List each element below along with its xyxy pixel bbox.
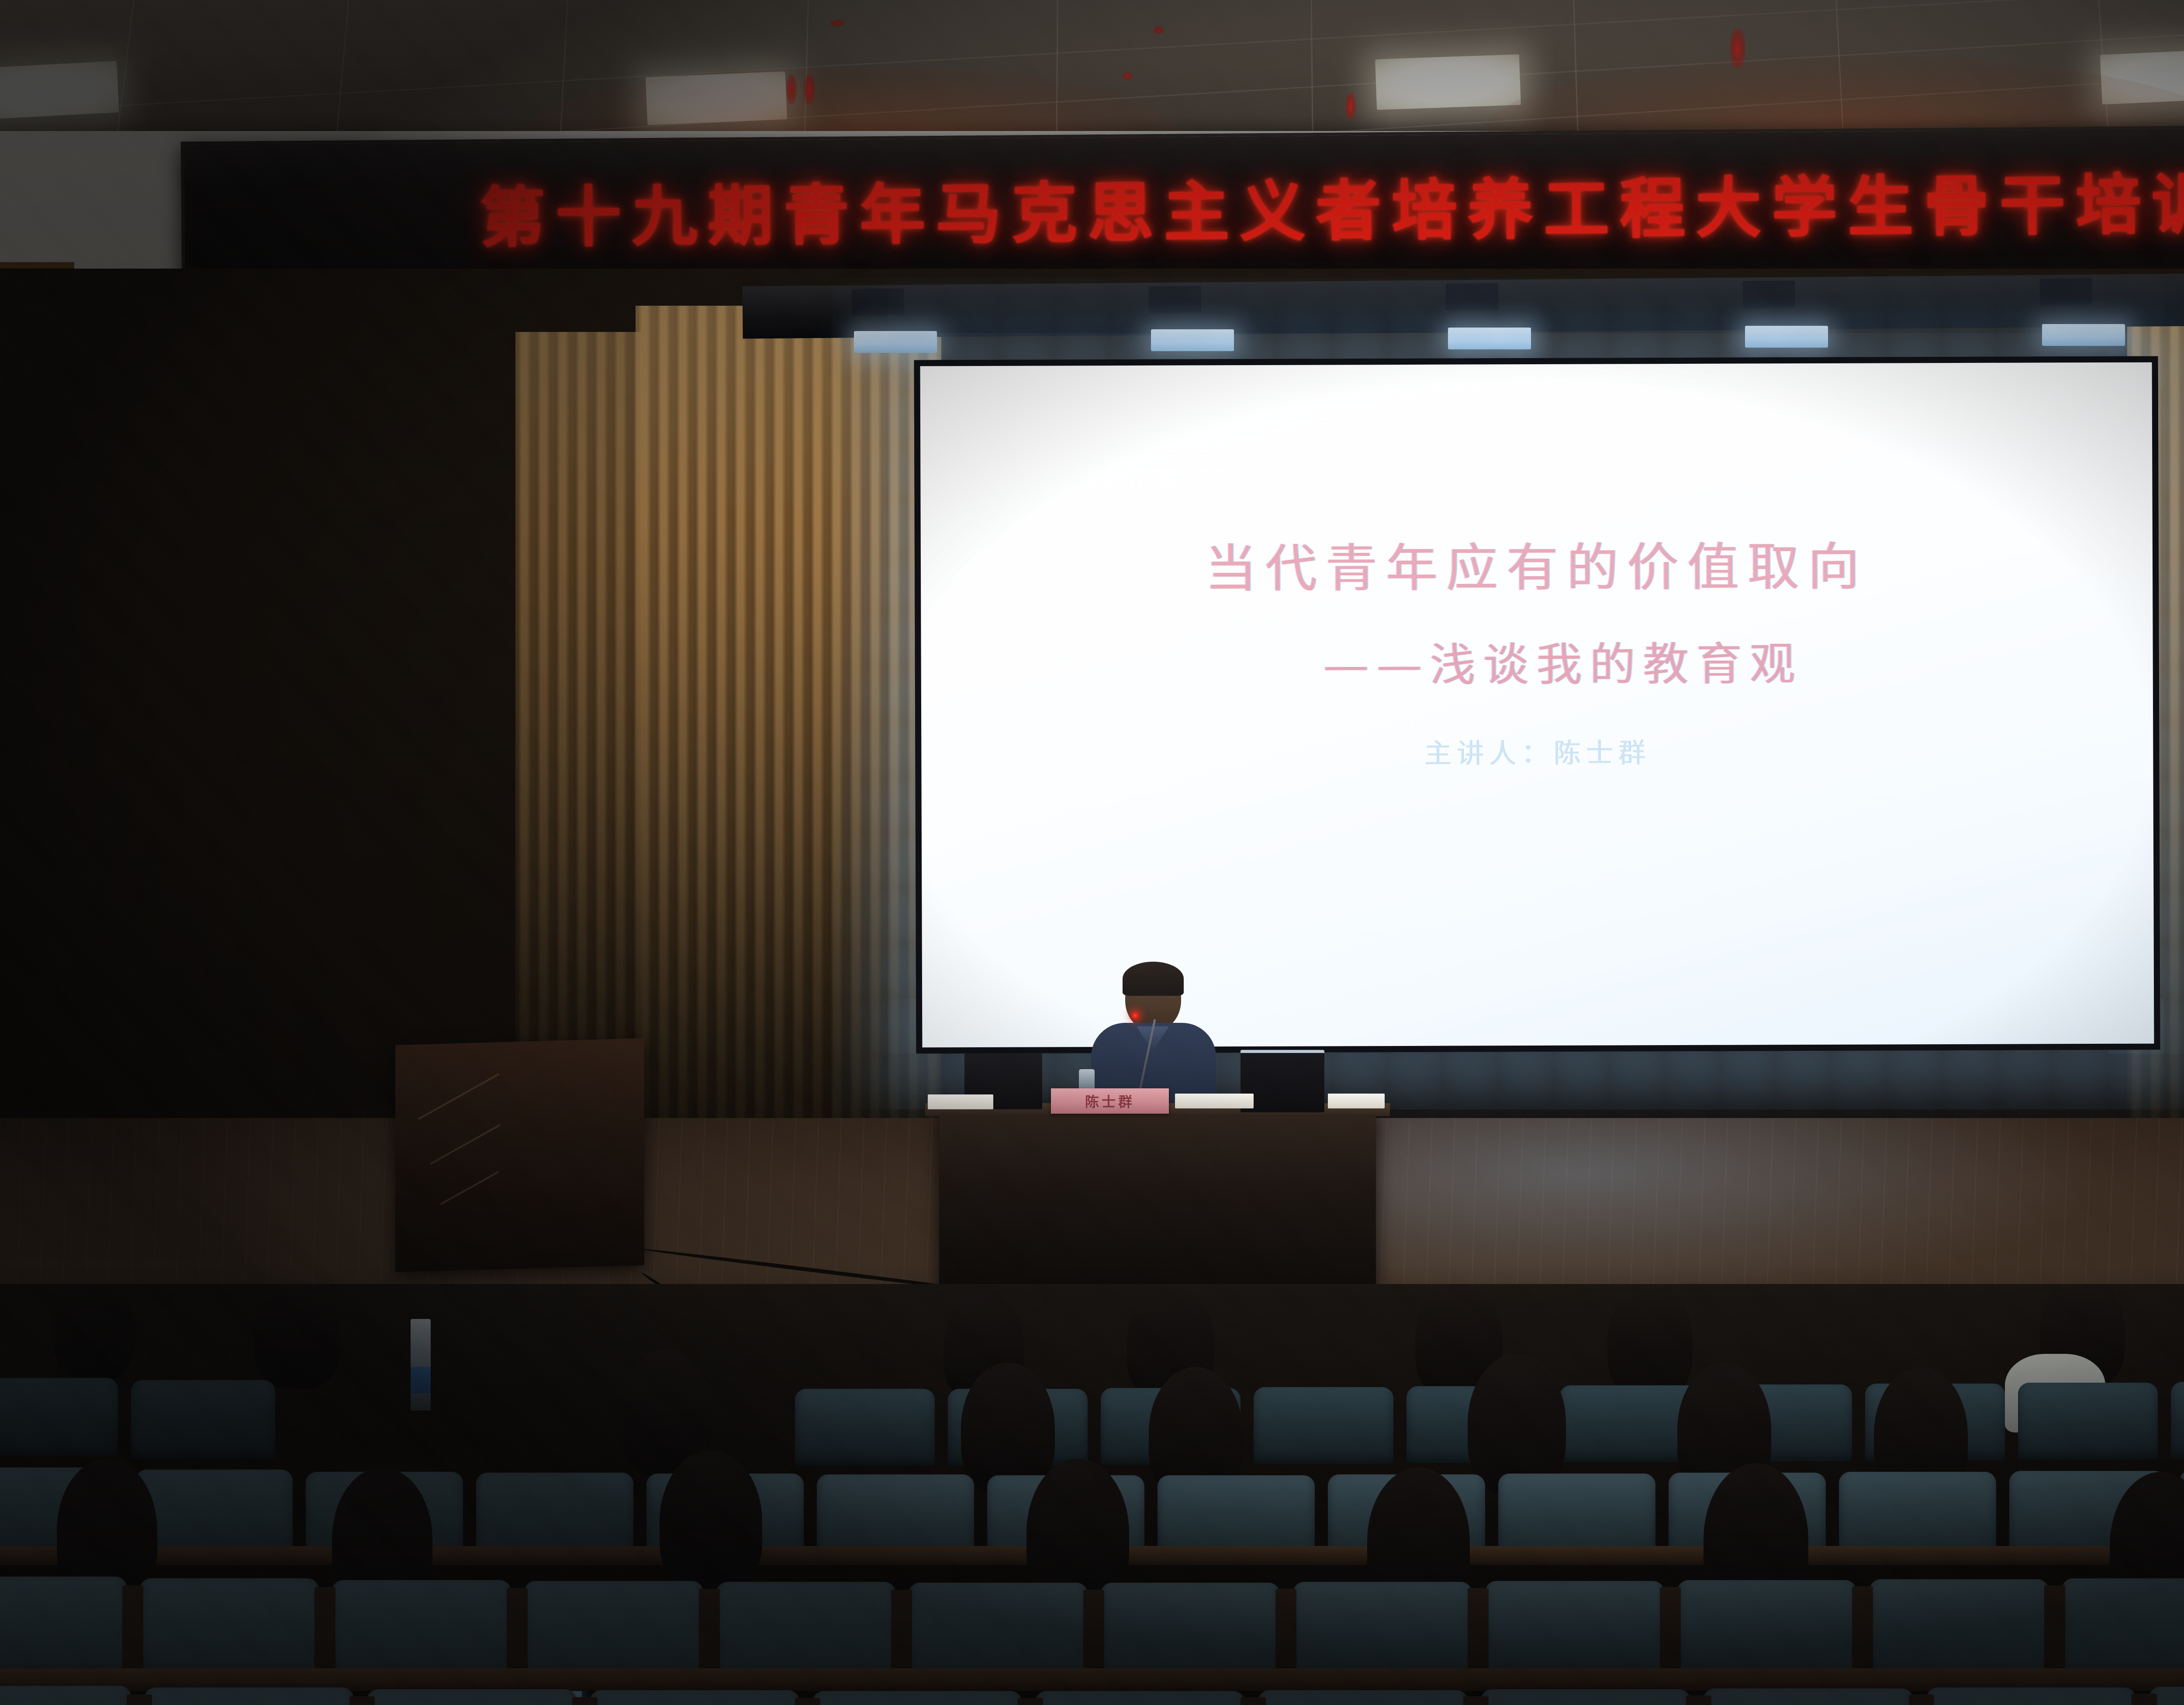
seat-armrest — [127, 1695, 152, 1705]
seat-armrest — [349, 1696, 375, 1705]
audience-seat — [2018, 1383, 2158, 1460]
audience-seat — [2062, 1578, 2184, 1677]
audience-seat — [1481, 1689, 1690, 1705]
microphone-led-icon — [1131, 1011, 1139, 1019]
audience-seat — [332, 1580, 511, 1678]
side-lectern — [395, 1038, 644, 1272]
led-reflection — [1345, 93, 1356, 120]
audience-seat — [909, 1583, 1088, 1681]
slide-presenter-line: 主讲人：陈士群 — [1424, 731, 1650, 771]
audience-seat — [1870, 1579, 2049, 1677]
projection-screen-surface: 当代青年应有的价值取向 ——浅谈我的教育观 主讲人：陈士群 — [920, 362, 2154, 1048]
led-reflection — [786, 74, 797, 104]
auditorium-scene: 第十九期青年马克思主义者培养工程大学生骨干培训班专题报告 当代青年应有的价值取向… — [0, 0, 2184, 1705]
seat-armrest — [1686, 1695, 1711, 1705]
led-reflection — [830, 20, 845, 27]
seat-armrest — [1018, 1698, 1043, 1705]
led-reflection — [1153, 26, 1164, 34]
nameplate-text: 陈士群 — [1085, 1091, 1135, 1111]
audience-seat — [1926, 1688, 2136, 1705]
audience-seat — [1101, 1583, 1280, 1681]
led-reflection — [1730, 28, 1745, 68]
audience-seat — [135, 1470, 293, 1557]
seat-armrest — [2132, 1694, 2157, 1705]
audience-seat — [1677, 1580, 1856, 1678]
audience-seat — [0, 1378, 118, 1456]
slide-title: 当代青年应有的价值取向 — [1205, 525, 1869, 602]
audience-seat — [144, 1688, 354, 1705]
audience-seat — [367, 1689, 577, 1705]
stage-light — [1448, 328, 1531, 349]
audience-seat — [1704, 1688, 1913, 1705]
head-table: 陈士群 — [939, 1109, 1376, 1293]
led-banner-text: 第十九期青年马克思主义者培养工程大学生骨干培训班专题报告 — [469, 148, 2184, 259]
audience-seat — [1254, 1387, 1393, 1464]
ceiling-light-panel — [2100, 48, 2184, 105]
audience-person — [253, 1284, 341, 1389]
audience-seat — [795, 1389, 935, 1466]
audience-seat — [1035, 1691, 1245, 1705]
audience-seat — [2171, 1382, 2184, 1459]
audience-seat — [524, 1581, 703, 1679]
audience-seat — [590, 1690, 799, 1705]
stage-light — [1151, 329, 1234, 351]
stage-light — [2042, 324, 2125, 346]
audience-person — [1607, 1284, 1693, 1399]
audience-seating — [0, 1284, 2184, 1705]
seat-armrest — [1463, 1696, 1489, 1705]
led-reflection — [1123, 72, 1132, 80]
audience-seat — [812, 1691, 1022, 1705]
audience-seat — [1293, 1582, 1472, 1680]
water-bottle — [411, 1319, 431, 1411]
slide-subtitle: ——浅谈我的教育观 — [1271, 627, 1803, 694]
ceiling-light-panel — [646, 71, 787, 125]
presenter-hair — [1123, 962, 1184, 996]
audience-person — [1468, 1354, 1566, 1494]
paper-sheet — [1328, 1094, 1385, 1108]
audience-seat — [0, 1577, 127, 1675]
audience-person — [961, 1363, 1055, 1494]
audience-person — [52, 1284, 135, 1380]
audience-seat — [0, 1686, 131, 1705]
audience-seat — [1485, 1581, 1664, 1679]
projection-screen: 当代青年应有的价值取向 ——浅谈我的教育观 主讲人：陈士群 — [914, 356, 2160, 1054]
ceiling-light-panel — [1375, 54, 1521, 110]
audience-seat — [1258, 1690, 1468, 1705]
audience-person — [660, 1450, 762, 1594]
bottle-label — [411, 1367, 431, 1393]
seat-armrest — [572, 1697, 598, 1705]
led-reflection — [804, 74, 815, 105]
nameplate: 陈士群 — [1051, 1088, 1169, 1114]
seat-armrest — [1909, 1695, 1934, 1705]
audience-seat — [140, 1578, 319, 1677]
stage-curtain-left — [636, 306, 941, 1136]
seat-armrest — [1241, 1697, 1266, 1705]
stage-curtain-far-left — [515, 332, 642, 1109]
led-banner: 第十九期青年马克思主义者培养工程大学生骨干培训班专题报告 — [181, 121, 2184, 288]
audience-seat — [716, 1582, 895, 1680]
seat-armrest — [795, 1698, 820, 1705]
ceiling-light-panel — [0, 61, 119, 120]
stage-light — [1745, 326, 1828, 348]
stage-light — [854, 331, 937, 353]
paper-sheet — [928, 1094, 993, 1109]
audience-seat — [131, 1380, 275, 1459]
paper-sheet — [1175, 1094, 1254, 1108]
ceiling — [0, 0, 2184, 144]
